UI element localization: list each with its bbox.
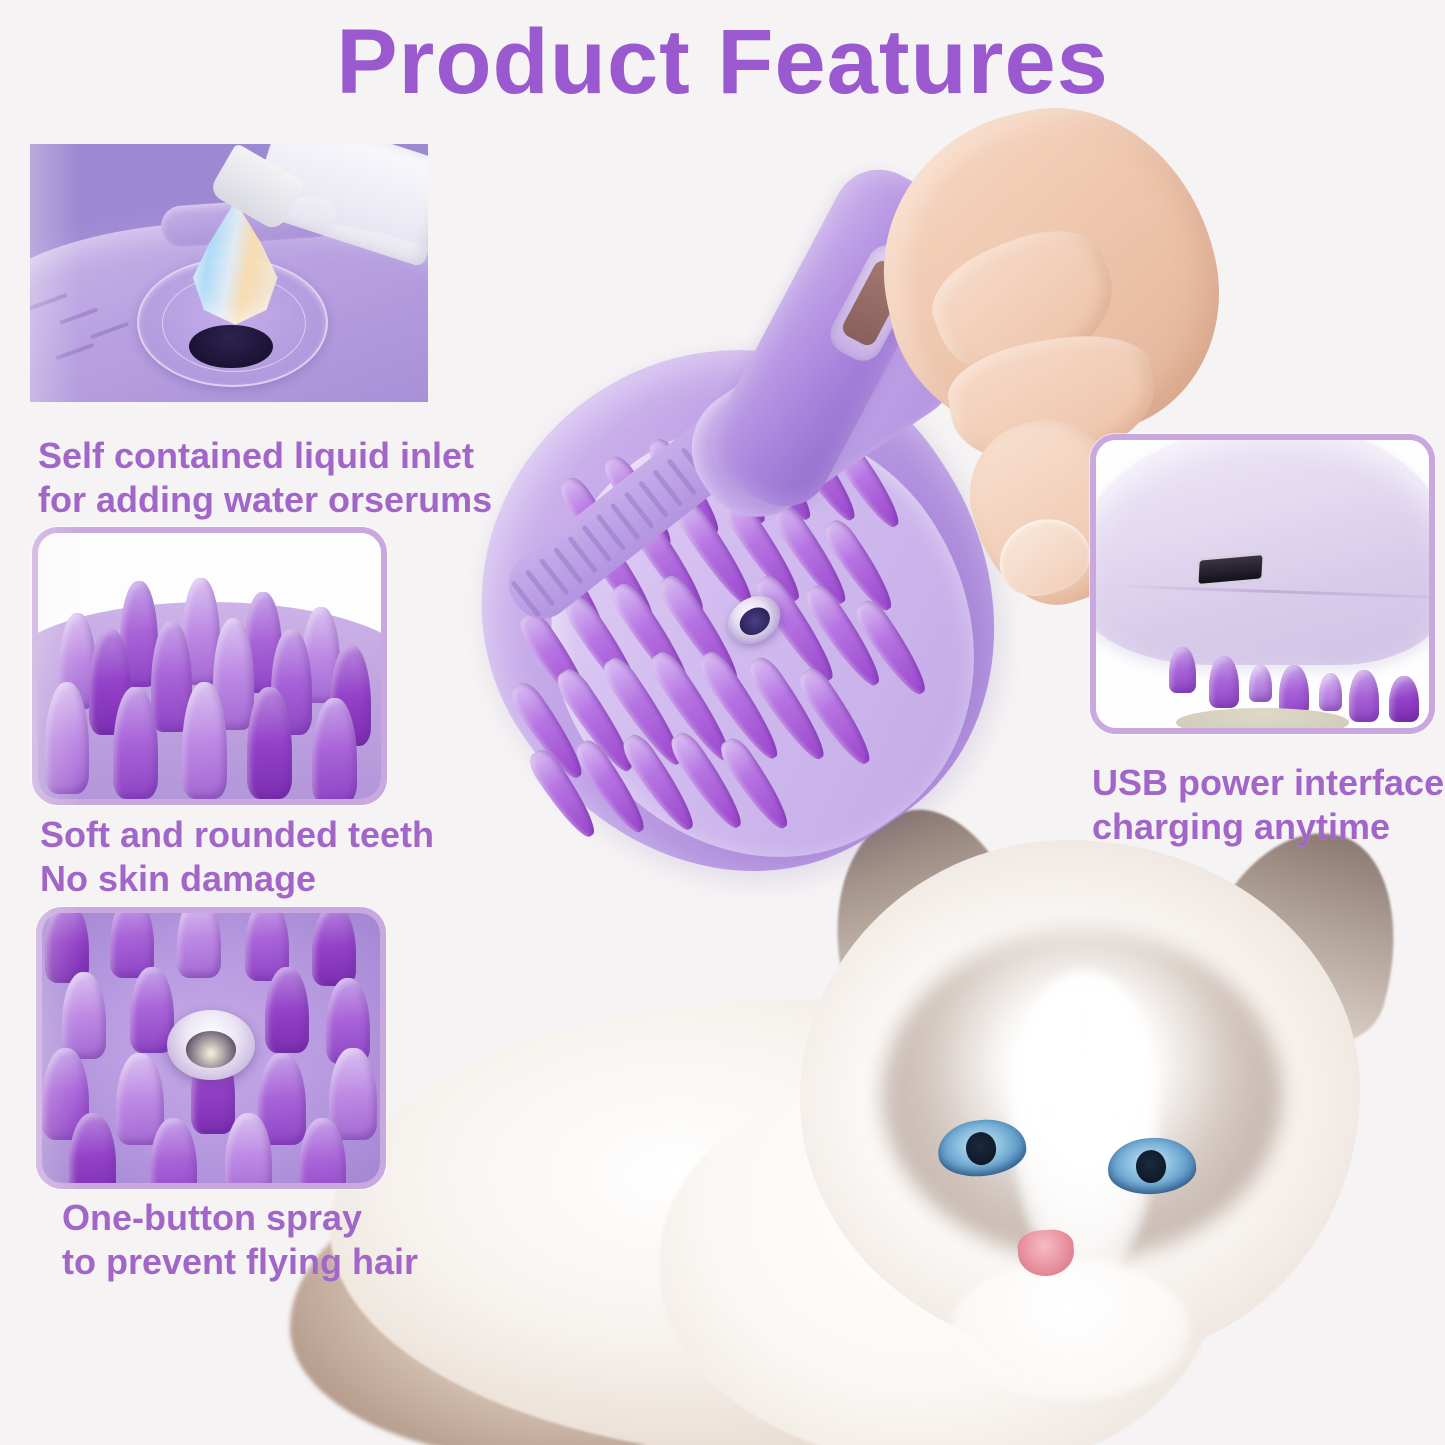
brush-shell xyxy=(1090,434,1435,665)
product-features-page: Product Features Self contained liquid i… xyxy=(0,0,1445,1445)
feature-image-liquid-inlet xyxy=(30,144,428,402)
liquid-inlet-illustration xyxy=(30,144,428,402)
spray-nozzle-icon xyxy=(167,1010,255,1080)
caption-usb-charging: USB power interface charging anytime xyxy=(1092,761,1444,849)
hero-product-image xyxy=(430,120,1150,880)
caption-soft-teeth: Soft and rounded teeth No skin damage xyxy=(40,813,434,901)
cat-muzzle xyxy=(950,1260,1190,1400)
page-title: Product Features xyxy=(0,14,1445,111)
shell-base-shadow xyxy=(1176,708,1349,734)
feature-image-usb-charging xyxy=(1090,434,1435,734)
soft-teeth-illustration xyxy=(38,533,381,799)
spray-nozzle-illustration xyxy=(42,913,380,1183)
usb-port-illustration xyxy=(1096,440,1429,728)
feature-image-soft-teeth xyxy=(32,527,387,805)
cat-photo xyxy=(330,820,1445,1445)
inlet-hole xyxy=(189,325,273,369)
caption-liquid-inlet: Self contained liquid inlet for adding w… xyxy=(38,434,492,522)
caption-one-button-spray: One-button spray to prevent flying hair xyxy=(62,1196,418,1284)
feature-image-one-button-spray xyxy=(36,907,386,1189)
